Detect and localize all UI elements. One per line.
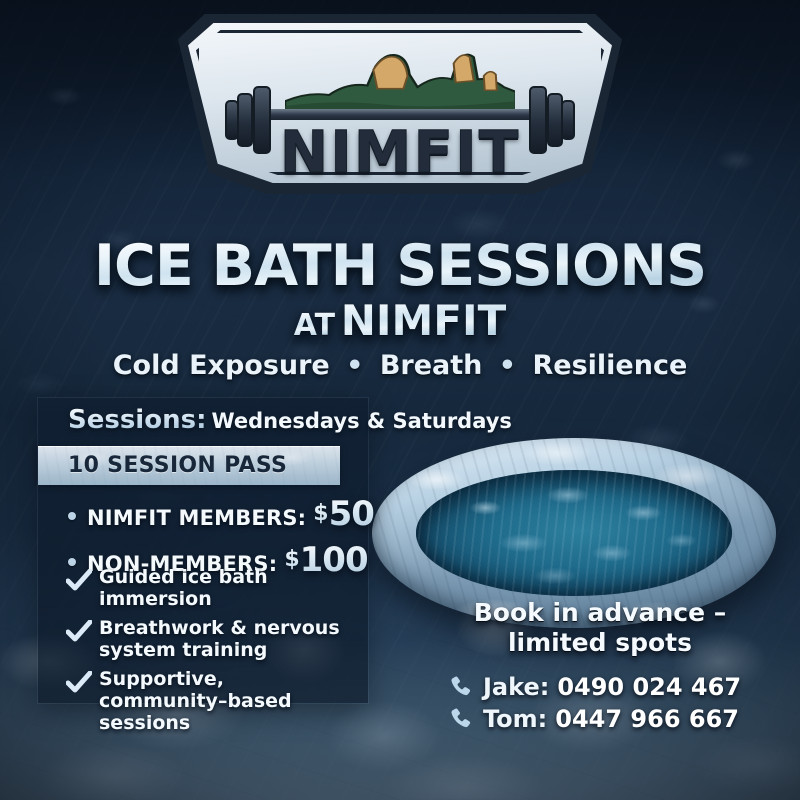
bullet-icon [68, 512, 76, 520]
price-label: NIMFIT MEMBERS: [87, 506, 306, 530]
booking-heading: Book in advance – limited spots [420, 598, 780, 658]
check-icon [66, 671, 92, 695]
session-pass-title: 10 SESSION PASS [38, 446, 340, 478]
contact-phone-number[interactable]: 0447 966 667 [555, 705, 739, 733]
list-item: Breathwork & nervous system training [66, 617, 358, 661]
session-pass-banner: 10 SESSION PASS [38, 446, 340, 485]
session-info-panel: Sessions:Wednesdays & Saturdays 10 SESSI… [38, 398, 368, 703]
booking-section: Book in advance – limited spots Jake: 04… [420, 598, 780, 737]
subtitle-prefix: AT [294, 308, 335, 343]
poster-canvas: NIMFIT ICE BATH SESSIONS AT NIMFIT Cold … [0, 0, 800, 800]
sessions-value: Wednesdays & Saturdays [211, 409, 511, 433]
phone-icon [448, 706, 474, 732]
subtitle-brand: NIMFIT [341, 296, 507, 345]
list-item: Guided ice bath immersion [66, 566, 358, 610]
contact-phone-number[interactable]: 0490 024 467 [557, 673, 741, 701]
bullet-separator-icon: • [492, 350, 523, 381]
sessions-label: Sessions: [68, 405, 206, 435]
tagline-item-2: Breath [380, 350, 483, 381]
contact-row[interactable]: Jake: 0490 024 467 [448, 673, 780, 701]
price-value: 50 [329, 494, 374, 534]
contact-name: Jake: [483, 673, 549, 701]
check-icon [66, 569, 92, 593]
benefits-list: Guided ice bath immersion Breathwork & n… [66, 566, 358, 741]
page-title: ICE BATH SESSIONS [0, 236, 800, 296]
price-amount: $50 [313, 494, 374, 534]
contact-row[interactable]: Tom: 0447 966 667 [448, 705, 780, 733]
nimfit-logo-badge: NIMFIT [178, 14, 622, 194]
benefit-text: Guided ice bath immersion [99, 566, 358, 610]
tagline-item-1: Cold Exposure [113, 350, 330, 381]
mountain-range-icon [285, 43, 516, 119]
benefit-text: Supportive, community–based sessions [99, 668, 358, 734]
currency-symbol: $ [313, 501, 328, 526]
headline-text: ICE BATH SESSIONS [94, 233, 706, 299]
benefit-text: Breathwork & nervous system training [99, 617, 358, 661]
bullet-icon [68, 558, 76, 566]
list-item: Supportive, community–based sessions [66, 668, 358, 734]
booking-heading-line-1: Book in advance – [420, 598, 780, 628]
contact-list: Jake: 0490 024 467 Tom: 0447 966 667 [420, 673, 780, 733]
phone-icon [448, 674, 474, 700]
booking-heading-line-2: limited spots [420, 628, 780, 658]
bullet-separator-icon: • [339, 350, 370, 381]
logo-wordmark: NIMFIT [178, 118, 622, 186]
contact-name: Tom: [483, 705, 547, 733]
check-icon [66, 620, 92, 644]
sessions-schedule-row: Sessions:Wednesdays & Saturdays [38, 398, 368, 443]
subtitle: AT NIMFIT [0, 299, 800, 352]
price-row: NIMFIT MEMBERS: $50 [64, 494, 394, 534]
tagline-item-3: Resilience [532, 350, 687, 381]
tagline: Cold Exposure • Breath • Resilience [0, 350, 800, 381]
